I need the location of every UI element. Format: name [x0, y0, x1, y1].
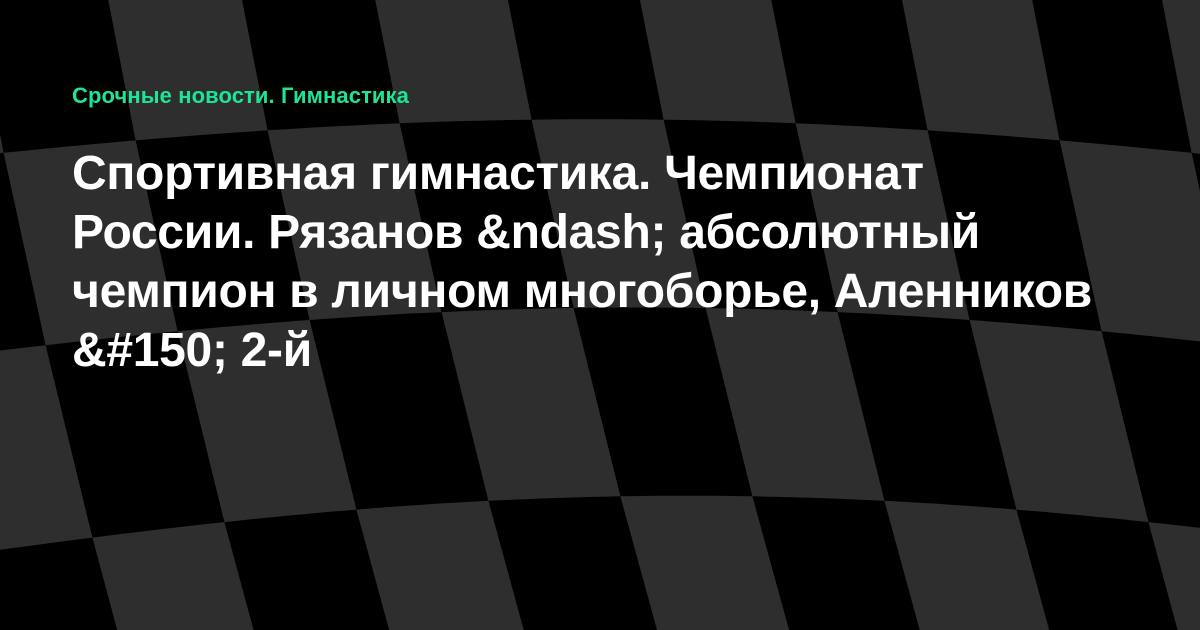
card-content: Срочные новости. Гимнастика Спортивная г…: [0, 0, 1200, 630]
headline-line: чемпион в личном многоборье, Аленников: [72, 262, 1128, 321]
headline-line: России. Рязанов &ndash; абсолютный: [72, 203, 1128, 262]
headline-line: &#150; 2-й: [72, 321, 1128, 380]
category-kicker: Срочные новости. Гимнастика: [72, 82, 1128, 110]
headline-line: Спортивная гимнастика. Чемпионат: [72, 144, 1128, 203]
headline-title: Спортивная гимнастика. ЧемпионатРоссии. …: [72, 144, 1128, 380]
share-card: Срочные новости. Гимнастика Спортивная г…: [0, 0, 1200, 630]
